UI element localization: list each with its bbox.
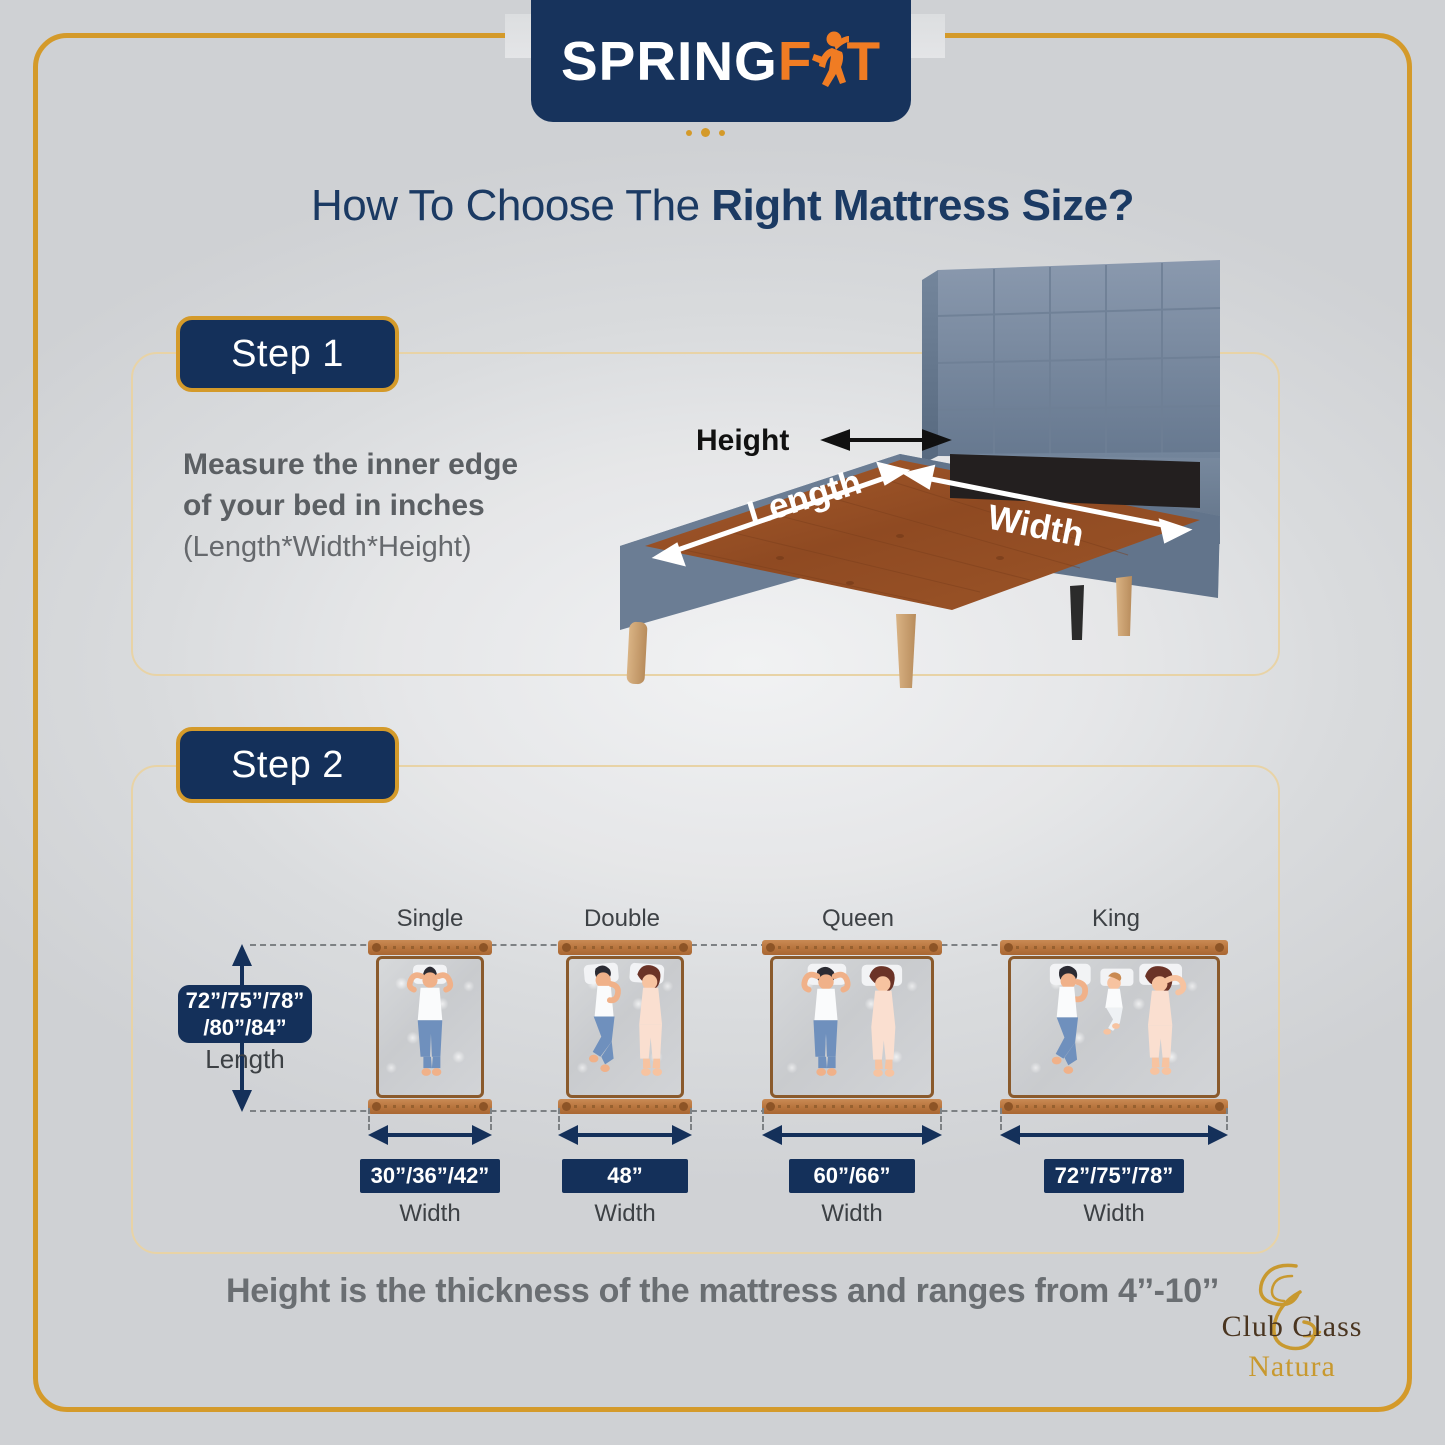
mattress-surface bbox=[376, 956, 484, 1098]
width-arrow-double bbox=[558, 1124, 692, 1144]
size-label-queen: Queen bbox=[758, 905, 958, 933]
size-label-single: Single bbox=[330, 905, 530, 933]
width-caption-queen: Width bbox=[789, 1200, 915, 1228]
natura-text: Natura bbox=[1192, 1350, 1392, 1384]
length-value-line-2: /80”/84” bbox=[203, 1014, 286, 1041]
mattress-surface bbox=[770, 956, 934, 1098]
length-caption: Length bbox=[178, 1044, 312, 1075]
width-value-king: 72”/75”/78” bbox=[1044, 1159, 1184, 1193]
brand-logo: SPRINGF T bbox=[531, 0, 911, 130]
mattress-single bbox=[368, 940, 492, 1114]
mattress-rail-top bbox=[762, 940, 942, 955]
mattress-double bbox=[558, 940, 692, 1114]
step-2-badge: Step 2 bbox=[176, 727, 399, 803]
size-label-double: Double bbox=[522, 905, 722, 933]
mattress-rail-bottom bbox=[1000, 1099, 1228, 1114]
width-arrow-queen bbox=[762, 1124, 942, 1144]
width-value-queen: 60”/66” bbox=[789, 1159, 915, 1193]
club-class-logo: Club Class Natura bbox=[1192, 1258, 1392, 1398]
mattress-king bbox=[1000, 940, 1228, 1114]
guide-tick bbox=[690, 1108, 692, 1130]
width-caption-single: Width bbox=[360, 1200, 500, 1228]
club-class-text: Club Class bbox=[1192, 1310, 1392, 1344]
length-value-line-1: 72”/75”/78” bbox=[186, 987, 305, 1014]
guide-tick bbox=[1000, 1108, 1002, 1130]
running-person-icon bbox=[812, 32, 846, 90]
logo-dot-divider bbox=[686, 128, 725, 137]
guide-tick bbox=[762, 1108, 764, 1130]
guide-tick bbox=[1226, 1108, 1228, 1130]
bed-height-label: Height bbox=[696, 424, 789, 457]
guide-tick bbox=[940, 1108, 942, 1130]
mattress-queen bbox=[762, 940, 942, 1114]
width-caption-double: Width bbox=[562, 1200, 688, 1228]
page-title-light: How To Choose The bbox=[311, 181, 711, 230]
mattress-surface bbox=[1008, 956, 1220, 1098]
page-title: How To Choose The Right Mattress Size? bbox=[0, 181, 1445, 231]
infographic-page: SPRINGF T How To Choose The Right Mattre… bbox=[0, 0, 1445, 1445]
step-1-line-2: of your bed in inches bbox=[183, 485, 603, 526]
step-1-badge: Step 1 bbox=[176, 316, 399, 392]
width-value-single: 30”/36”/42” bbox=[360, 1159, 500, 1193]
guide-tick bbox=[490, 1108, 492, 1130]
mattress-rail-top bbox=[1000, 940, 1228, 955]
logo-t-text: T bbox=[846, 29, 881, 93]
mattress-rail-bottom bbox=[558, 1099, 692, 1114]
mattress-rail-bottom bbox=[368, 1099, 492, 1114]
width-arrow-single bbox=[368, 1124, 492, 1144]
step-1-line-1: Measure the inner edge bbox=[183, 444, 603, 485]
bed-illustration: Length Width Height bbox=[600, 258, 1250, 708]
logo-wordmark: SPRINGF T bbox=[561, 29, 881, 93]
size-label-king: King bbox=[1016, 905, 1216, 933]
width-value-double: 48” bbox=[562, 1159, 688, 1193]
guide-tick bbox=[558, 1108, 560, 1130]
length-value-badge: 72”/75”/78” /80”/84” bbox=[178, 985, 312, 1043]
page-title-bold: Right Mattress Size? bbox=[711, 181, 1134, 230]
step-1-line-3: (Length*Width*Height) bbox=[183, 526, 603, 568]
logo-f-text: F bbox=[778, 29, 813, 93]
width-caption-king: Width bbox=[1044, 1200, 1184, 1228]
mattress-rail-bottom bbox=[762, 1099, 942, 1114]
mattress-rail-top bbox=[368, 940, 492, 955]
mattress-rail-top bbox=[558, 940, 692, 955]
mattress-surface bbox=[566, 956, 684, 1098]
logo-spring-text: SPRING bbox=[561, 29, 778, 93]
guide-tick bbox=[368, 1108, 370, 1130]
logo-panel: SPRINGF T bbox=[531, 0, 911, 122]
width-arrow-king bbox=[1000, 1124, 1228, 1144]
step-1-instructions: Measure the inner edge of your bed in in… bbox=[183, 444, 603, 568]
